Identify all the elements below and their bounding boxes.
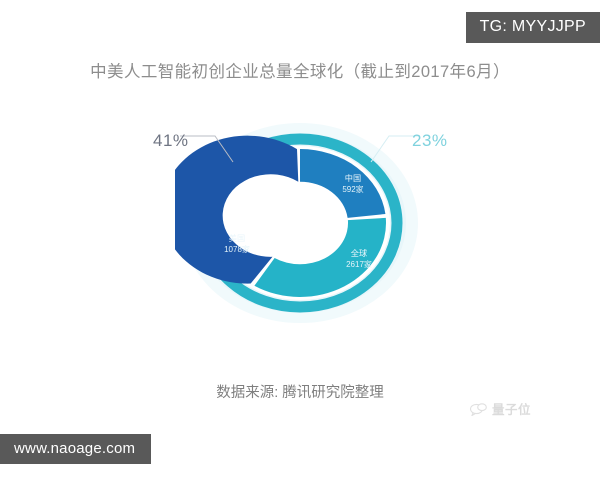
tg-watermark-badge: TG: MYYJJPP [466, 12, 600, 43]
site-watermark-badge: www.naoage.com [0, 434, 151, 464]
slice-label-usa-value: 1078家 [224, 244, 250, 254]
brand-logo-text: 量子位 [492, 399, 531, 418]
slice-label-china-name: 中国 [345, 173, 361, 183]
slice-label-global-value: 2617家 [346, 259, 372, 269]
cloud-chat-icon [470, 402, 487, 416]
slice-label-china-value: 592家 [342, 184, 363, 194]
slice-label-usa-name: 美国 [229, 233, 245, 243]
donut-chart: 中国 592家 全球 2617家 美国 1078家 [175, 120, 425, 345]
page-title: 中美人工智能初创企业总量全球化（截止到2017年6月） [0, 58, 600, 82]
callout-percent-china: 23% [412, 131, 448, 151]
donut-hole [253, 183, 347, 263]
slice-label-global-name: 全球 [351, 248, 367, 258]
donut-chart-svg: 中国 592家 全球 2617家 美国 1078家 [175, 120, 425, 345]
brand-logo: 量子位 [470, 399, 531, 418]
callout-percent-usa: 41% [153, 131, 189, 151]
chart-canvas: 中美人工智能初创企业总量全球化（截止到2017年6月） 中国 [0, 0, 600, 480]
